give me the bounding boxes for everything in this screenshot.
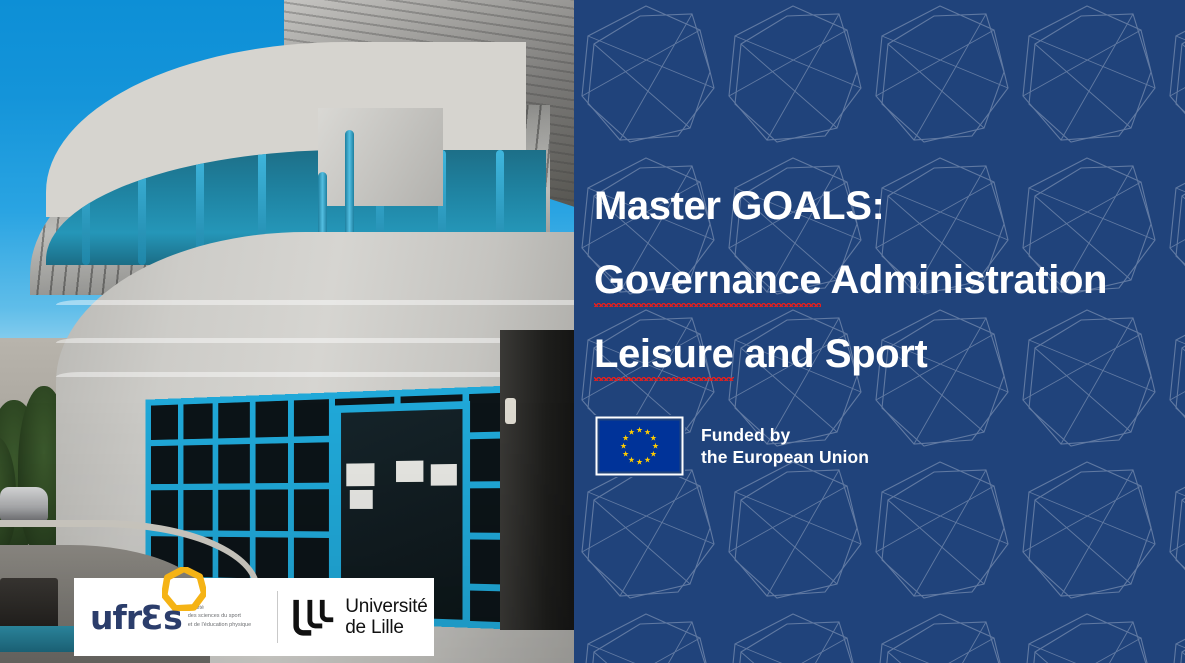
door-notice <box>396 461 423 483</box>
universite-de-lille-wordmark: Université de Lille <box>345 596 427 639</box>
title-line-2-misspelled-word: Governance <box>594 260 821 300</box>
ufr3s-wordmark: ufr3s <box>90 601 182 634</box>
wall-lamp <box>505 398 516 424</box>
wall-joint-line <box>56 372 574 377</box>
ufr3s-subtitle-line2: des sciences du sport <box>188 612 251 621</box>
nested-l-brackets-icon <box>292 598 336 636</box>
ufr3s-logo: ufr3s faculté des sciences du sport et d… <box>74 601 251 634</box>
title-line-3-misspelled-word: Leisure <box>594 334 734 374</box>
title-line-1: Master GOALS: <box>594 186 884 226</box>
eu-funding-statement: Funded by the European Union <box>594 415 869 477</box>
ufr3s-subtitle-line3: et de l'éducation physique <box>188 621 251 630</box>
title-panel: Master GOALS: Governance Administration … <box>574 0 1185 663</box>
foreground-pallet <box>0 578 58 630</box>
entrance-recess <box>500 330 574 630</box>
building-photograph <box>0 0 574 663</box>
rooftop-box <box>318 108 443 206</box>
glass-mullion <box>82 150 90 265</box>
udl-line2: de Lille <box>345 617 427 638</box>
glass-mullion <box>138 150 146 265</box>
door-notice <box>350 490 373 509</box>
eu-funding-line1: Funded by <box>701 424 869 446</box>
wall-joint-line <box>56 338 574 343</box>
ufr3s-wordmark-reversed-3: 3 <box>141 601 163 634</box>
title-line-2: Governance Administration <box>594 260 1107 300</box>
logo-divider <box>277 591 278 643</box>
parked-car <box>0 487 48 521</box>
title-line-2-rest: Administration <box>821 258 1107 302</box>
door-notice <box>431 464 457 486</box>
slide-title: Master GOALS: Governance Administration … <box>594 186 1185 374</box>
door-notice <box>346 463 374 486</box>
eu-funding-line2: the European Union <box>701 446 869 468</box>
wall-joint-line <box>56 300 574 305</box>
eu-funding-text: Funded by the European Union <box>701 424 869 469</box>
presentation-slide: ufr3s faculté des sciences du sport et d… <box>0 0 1185 663</box>
partner-logos-box: ufr3s faculté des sciences du sport et d… <box>74 578 434 656</box>
ufr3s-wordmark-s: s <box>163 598 182 637</box>
ufr3s-wordmark-u-f-r: ufr <box>90 598 141 637</box>
universite-de-lille-logo: Université de Lille <box>292 596 427 639</box>
title-line-3-rest: and Sport <box>734 332 928 376</box>
title-line-3: Leisure and Sport <box>594 334 927 374</box>
european-union-flag-icon <box>594 415 685 477</box>
udl-line1: Université <box>345 596 427 617</box>
